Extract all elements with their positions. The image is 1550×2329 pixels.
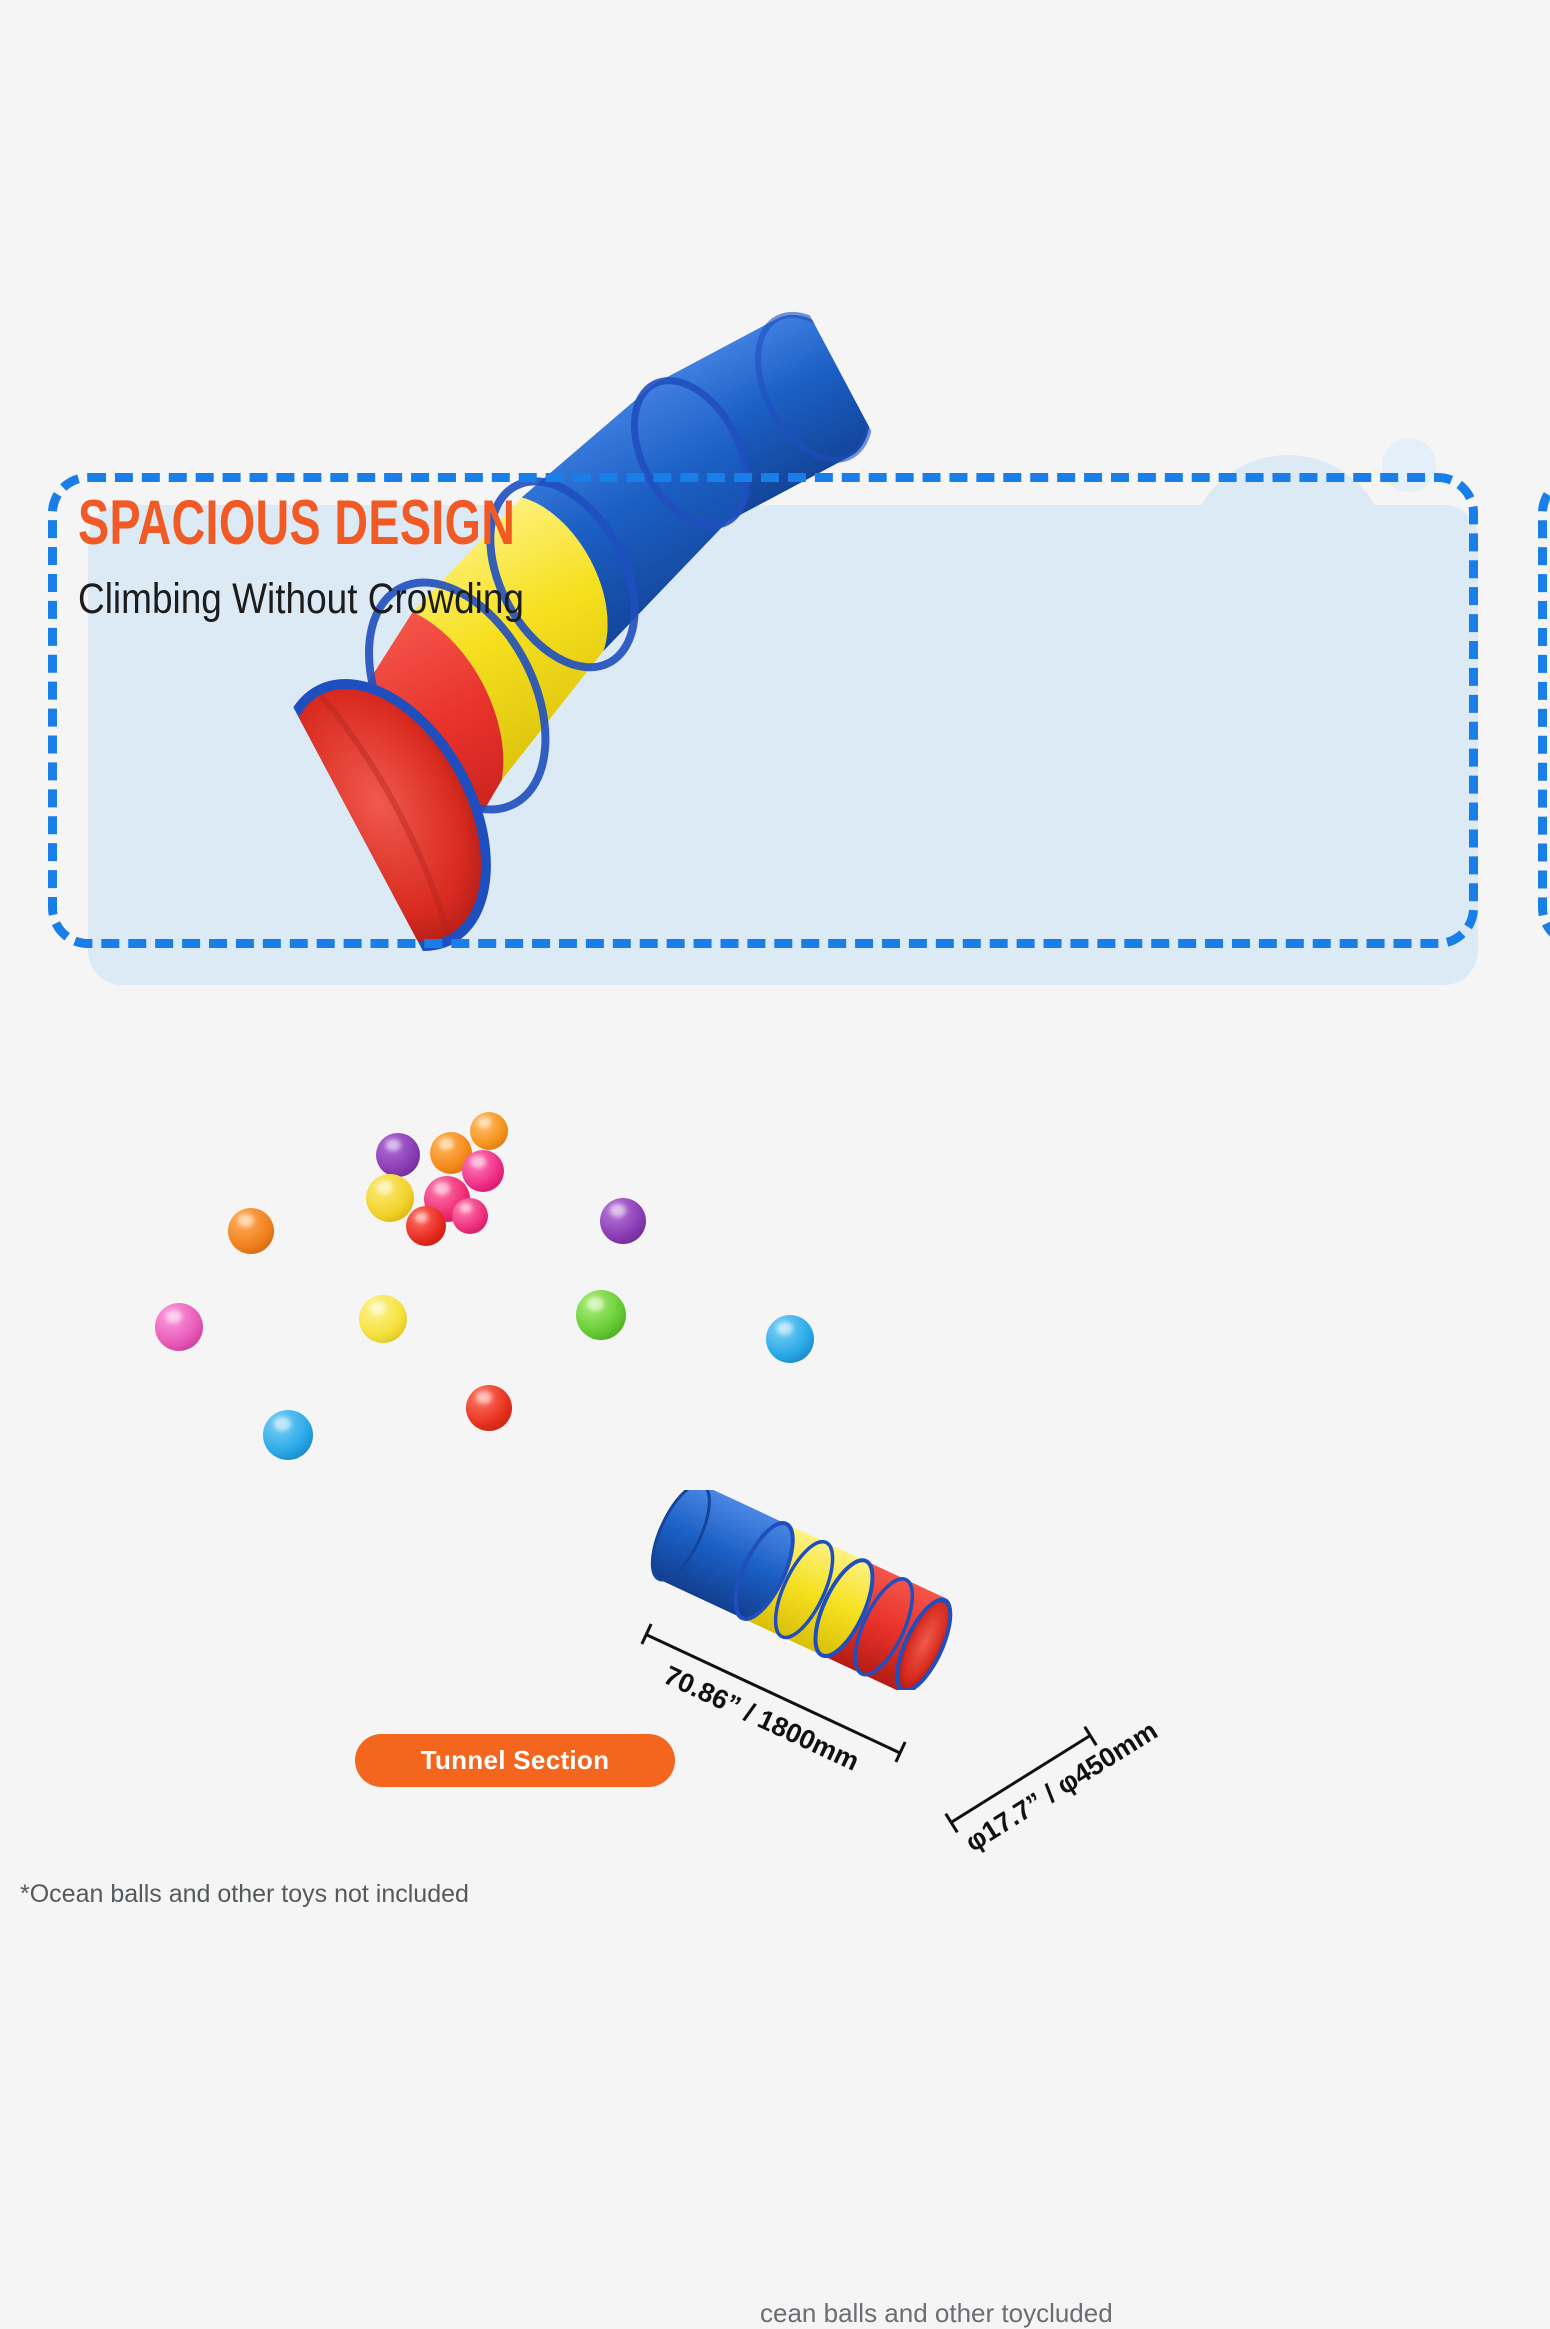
ball (406, 1206, 446, 1246)
product-feature-slide: SPACIOUS DESIGN Climbing Without Crowdin… (0, 0, 1550, 2324)
yellow-ball (359, 1295, 407, 1343)
red-ball (466, 1385, 512, 1431)
dimension-diameter-label: φ17.7” / φ450mm (960, 1715, 1163, 1858)
tunnel-section-badge[interactable]: Tunnel Section (355, 1734, 675, 1787)
purple-ball (600, 1198, 646, 1244)
page-subtitle: Climbing Without Crowding (78, 578, 524, 621)
ball (376, 1133, 420, 1177)
clipped-next-section-text: cean balls and other toycluded (760, 2298, 1113, 2329)
ball (452, 1198, 488, 1234)
orange-ball (228, 1208, 274, 1254)
green-ball (576, 1290, 626, 1340)
dashed-highlight-frame-next (1538, 473, 1550, 948)
page-title: SPACIOUS DESIGN (78, 492, 515, 555)
pink-ball (155, 1303, 203, 1351)
footnote-disclaimer: *Ocean balls and other toys not included (20, 1880, 469, 1909)
tunnel-small-svg (640, 1490, 970, 1690)
ball (462, 1150, 504, 1192)
cyan-ball (766, 1315, 814, 1363)
ball (366, 1174, 414, 1222)
tunnel-section-diagram (640, 1490, 970, 1690)
ball (470, 1112, 508, 1150)
blue-ball (263, 1410, 313, 1460)
